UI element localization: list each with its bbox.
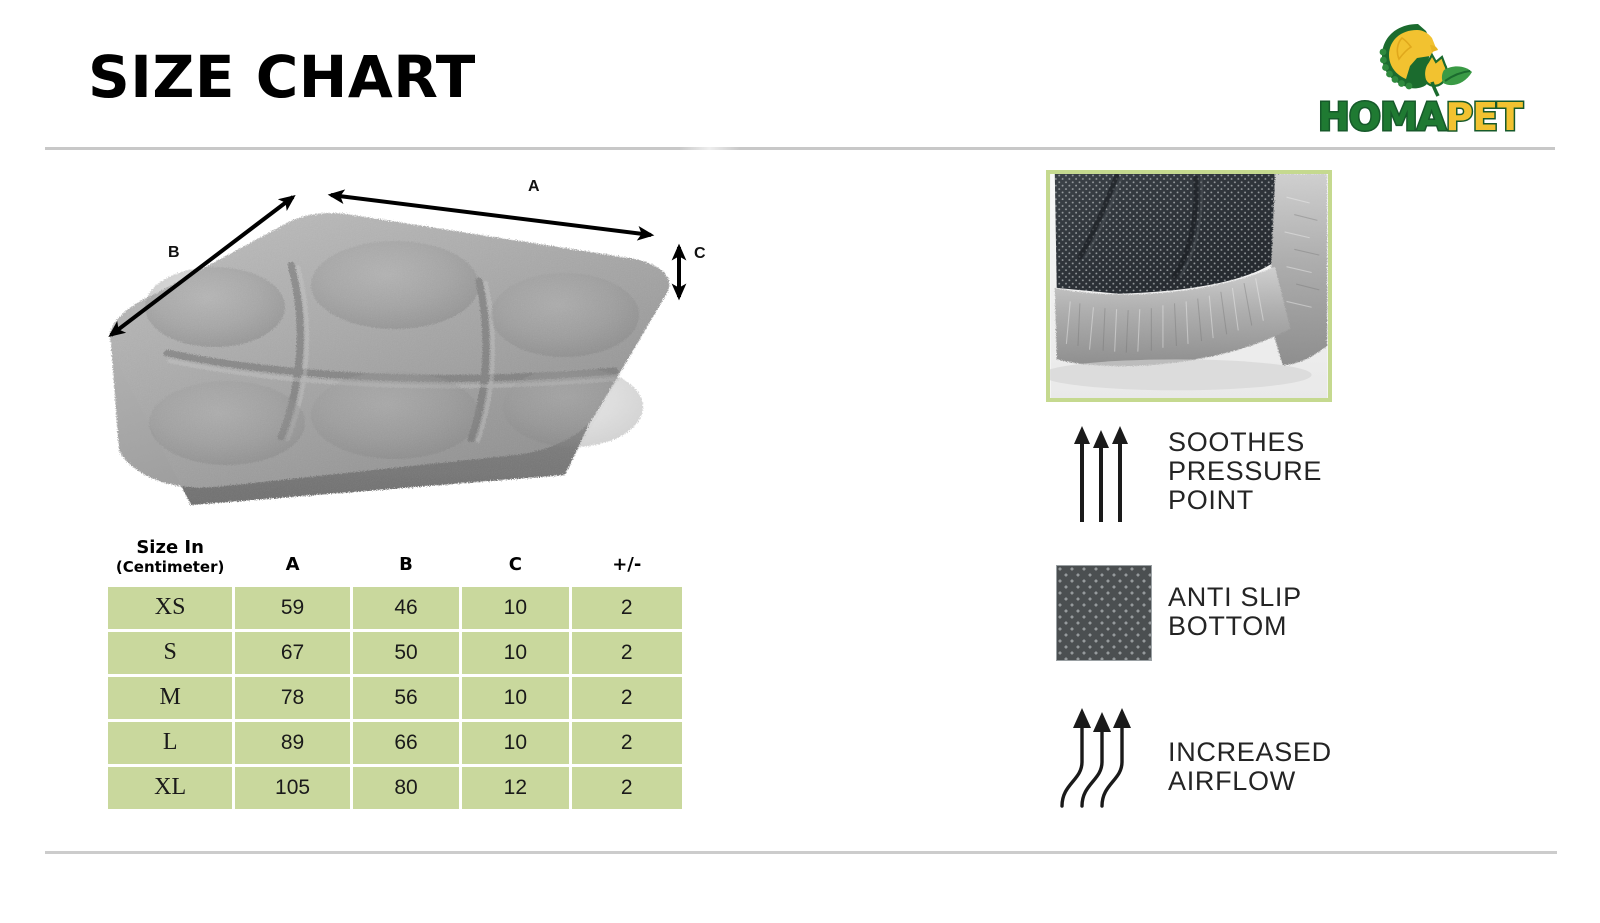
footer-divider	[45, 851, 1557, 854]
table-row: S 67 50 10 2	[108, 632, 682, 674]
brand-name-pet: PET	[1445, 95, 1522, 139]
brand-wordmark: HOMAPET	[1318, 94, 1522, 140]
table-header-row: Size In (Centimeter) A B C +/-	[108, 536, 682, 584]
cell-size: L	[108, 722, 232, 764]
cell-tolerance: 2	[572, 587, 682, 629]
table-row: M 78 56 10 2	[108, 677, 682, 719]
dimension-label-a: A	[528, 178, 540, 196]
cell-b: 50	[353, 632, 459, 674]
cell-size: XL	[108, 767, 232, 809]
cell-a: 78	[235, 677, 350, 719]
cell-c: 10	[462, 722, 568, 764]
cell-a: 59	[235, 587, 350, 629]
column-header-tolerance: +/-	[572, 536, 682, 584]
cell-b: 80	[353, 767, 459, 809]
pet-bed-corner-detail-photo	[1046, 170, 1332, 402]
dimension-label-b: B	[168, 244, 180, 262]
brand-name-homa: HOMA	[1318, 95, 1445, 139]
size-chart-table: Size In (Centimeter) A B C +/- XS 59 46 …	[105, 533, 685, 812]
pet-bed-corner-illustration	[1050, 174, 1328, 398]
cell-b: 56	[353, 677, 459, 719]
cell-tolerance: 2	[572, 722, 682, 764]
cell-tolerance: 2	[572, 632, 682, 674]
cell-size: M	[108, 677, 232, 719]
feature-label-increased-airflow: INCREASED AIRFLOW	[1168, 738, 1332, 796]
table-row: XL 105 80 12 2	[108, 767, 682, 809]
grey-plush-pet-cushion-photo	[95, 175, 695, 520]
column-header-size-sub: (Centimeter)	[108, 559, 232, 576]
page-title: SIZE CHART	[88, 48, 476, 106]
cell-size: XS	[108, 587, 232, 629]
cell-tolerance: 2	[572, 677, 682, 719]
cell-c: 12	[462, 767, 568, 809]
dimension-label-c: C	[694, 245, 706, 263]
column-header-a: A	[235, 536, 350, 584]
cell-b: 46	[353, 587, 459, 629]
column-header-c: C	[462, 536, 568, 584]
cell-a: 105	[235, 767, 350, 809]
feature-label-anti-slip-bottom: ANTI SLIP BOTTOM	[1168, 583, 1302, 641]
table-row: L 89 66 10 2	[108, 722, 682, 764]
cell-a: 89	[235, 722, 350, 764]
three-straight-up-arrows-icon	[1062, 422, 1148, 522]
cell-c: 10	[462, 677, 568, 719]
column-header-b: B	[353, 536, 459, 584]
cell-b: 66	[353, 722, 459, 764]
column-header-size-main: Size In	[136, 537, 204, 558]
header-divider	[45, 147, 1555, 150]
size-chart-page: SIZE CHART HOM	[0, 0, 1600, 923]
feature-soothes-pressure-point: SOOTHES PRESSURE POINT	[1046, 418, 1516, 528]
cell-tolerance: 2	[572, 767, 682, 809]
anti-slip-fabric-swatch-icon	[1056, 565, 1152, 661]
three-curved-up-arrows-icon	[1056, 700, 1156, 808]
feature-increased-airflow: INCREASED AIRFLOW	[1046, 698, 1516, 813]
cell-a: 67	[235, 632, 350, 674]
feature-label-soothes-pressure-point: SOOTHES PRESSURE POINT	[1168, 428, 1322, 515]
column-header-size: Size In (Centimeter)	[108, 536, 232, 584]
table-row: XS 59 46 10 2	[108, 587, 682, 629]
cell-c: 10	[462, 587, 568, 629]
feature-anti-slip-bottom: ANTI SLIP BOTTOM	[1046, 565, 1516, 670]
brand-logo: HOMAPET	[1318, 22, 1522, 140]
cell-c: 10	[462, 632, 568, 674]
dog-cat-leaf-logo-icon	[1370, 22, 1474, 98]
cell-size: S	[108, 632, 232, 674]
